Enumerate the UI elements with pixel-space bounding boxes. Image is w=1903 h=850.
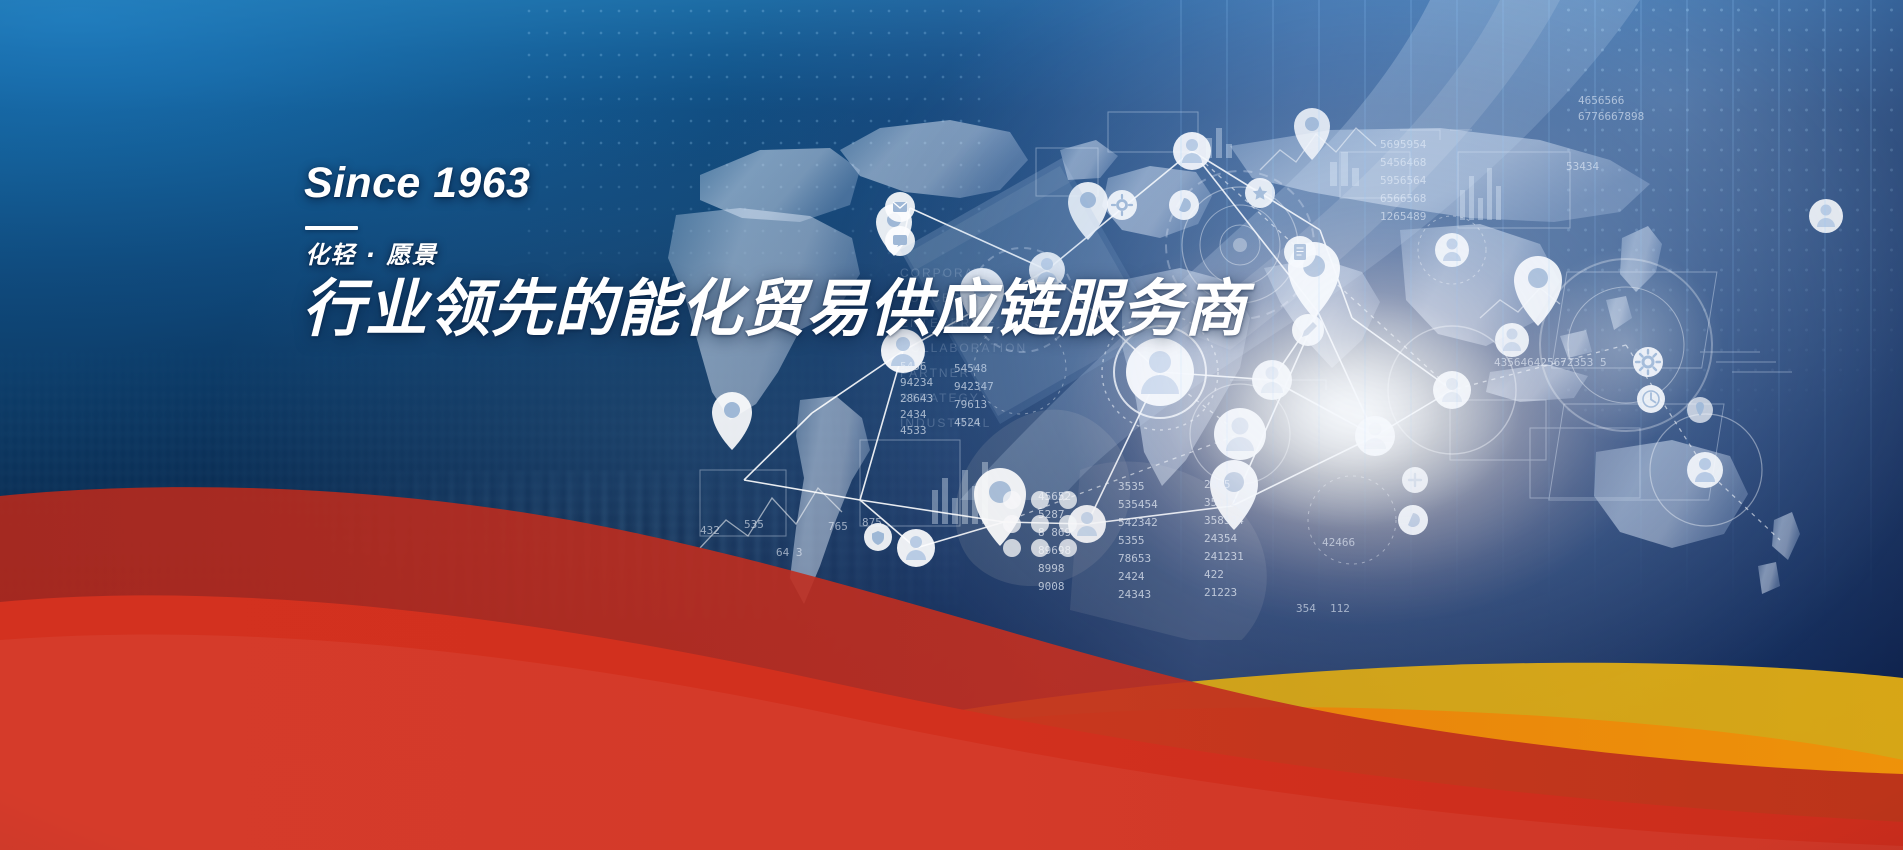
since-label: Since 1963 — [304, 162, 1247, 205]
divider-rule — [305, 226, 358, 230]
hero-subtitle: 化轻 · 愿景 — [305, 243, 1247, 267]
hero-text-block: Since 1963 化轻 · 愿景 行业领先的能化贸易供应链服务商 — [304, 162, 1247, 340]
hero-headline: 行业领先的能化贸易供应链服务商 — [302, 278, 1247, 340]
hero-banner: CORPORATE SUCCESS ENTERPRISE COLLABORATI… — [0, 0, 1903, 850]
vignette-overlay — [0, 0, 1903, 850]
